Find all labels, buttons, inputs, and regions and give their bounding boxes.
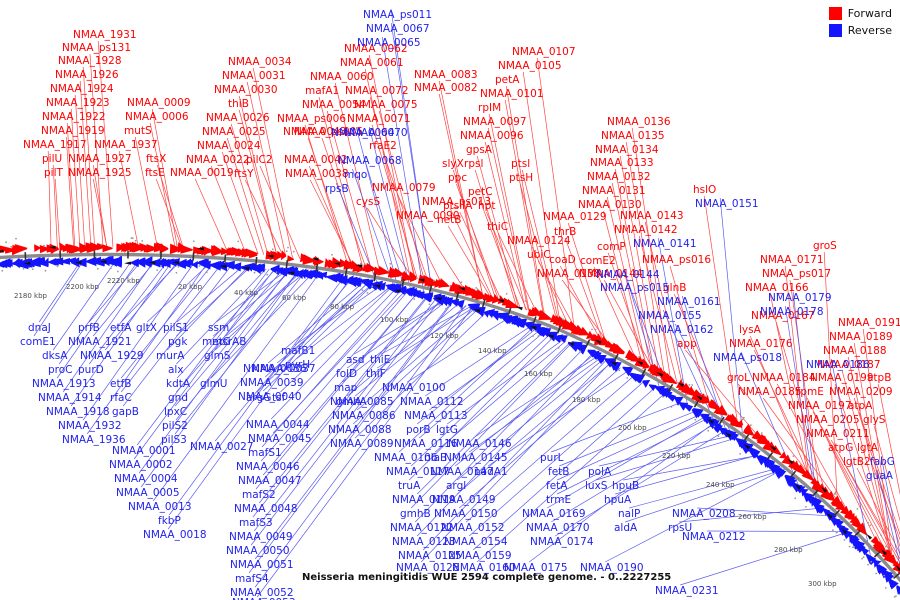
gene-label-forward[interactable]: NMAA_ps131 <box>62 43 131 54</box>
label-leader-line <box>226 273 304 336</box>
gene-label-reverse[interactable]: NMAA_0018 <box>143 530 207 541</box>
gene-label-forward[interactable]: NMAA_0061 <box>340 58 404 69</box>
gene-feature-dot <box>461 281 463 283</box>
gene-label-forward[interactable]: rpmE <box>796 387 824 398</box>
gene-feature-dot <box>894 596 896 598</box>
gene-feature-dot <box>739 453 741 455</box>
gene-label-forward[interactable]: NMAA_0171 <box>760 255 824 266</box>
gene-label-forward[interactable]: ftsX <box>146 154 166 165</box>
gene-label-forward[interactable]: NMAA_0006 <box>125 112 189 123</box>
gene-feature-dot <box>331 254 333 256</box>
gene-label-forward[interactable]: NMAA_1923 <box>46 98 110 109</box>
gene-label-reverse[interactable]: NMAA_1913 <box>32 379 96 390</box>
gene-feature-dot <box>23 268 25 270</box>
gene-feature-dot <box>135 240 137 242</box>
gene-label-reverse[interactable]: rfaC <box>110 393 132 404</box>
gene-label-reverse[interactable]: argl <box>446 481 466 492</box>
gene-label-reverse[interactable]: pgk <box>168 337 187 348</box>
gene-label-reverse[interactable]: NMAA_0088 <box>328 425 392 436</box>
gene-label-reverse[interactable]: mqo <box>344 170 367 181</box>
gene-label-forward[interactable]: NMAA_1925 <box>68 168 132 179</box>
gene-label-reverse[interactable]: purL <box>540 453 564 464</box>
gene-label-forward[interactable]: NMAA_0188 <box>823 346 887 357</box>
gene-label-reverse[interactable]: truA <box>398 481 420 492</box>
gene-feature-dot <box>713 426 715 428</box>
gene-label-reverse[interactable]: glmS <box>204 351 230 362</box>
gene-feature-dot <box>707 430 709 432</box>
gene-label-reverse[interactable]: NMAA_0044 <box>246 420 310 431</box>
gene-feature-dot <box>579 350 581 352</box>
gene-label-reverse[interactable]: polA <box>588 467 611 478</box>
gene-feature-arrow[interactable] <box>642 380 650 388</box>
gene-label-forward[interactable]: NMAA_0134 <box>595 145 659 156</box>
gene-label-forward[interactable]: hslO <box>693 185 716 196</box>
gene-label-reverse[interactable]: NMAA_0186 <box>806 360 870 371</box>
gene-label-forward[interactable]: ftsE <box>145 168 165 179</box>
gene-feature-dot <box>364 264 366 266</box>
gene-label-reverse[interactable]: NMAA_0141 <box>633 239 697 250</box>
gene-label-forward[interactable]: NMAA_0019 <box>170 168 234 179</box>
label-leader-line <box>245 180 284 257</box>
gene-label-forward[interactable]: ppc <box>448 173 467 184</box>
gene-label-reverse[interactable]: NMAA_0113 <box>404 411 468 422</box>
gene-feature-dot <box>748 457 750 459</box>
gene-label-reverse[interactable]: NMAA_0027 <box>190 442 254 453</box>
scale-tick-label: 240 kbp <box>706 481 735 489</box>
gene-label-forward[interactable]: atpB <box>867 373 891 384</box>
gene-label-reverse[interactable]: map <box>334 383 357 394</box>
gene-label-forward[interactable]: NMAA_ps017 <box>762 269 831 280</box>
gene-label-forward[interactable]: cysS <box>356 197 380 208</box>
gene-label-reverse[interactable]: NMAA_0049 <box>229 532 293 543</box>
gene-label-reverse[interactable]: gltX <box>136 323 157 334</box>
gene-feature-dot <box>718 435 720 437</box>
gene-label-reverse[interactable]: nadA1 <box>474 467 508 478</box>
gene-label-reverse[interactable]: prfB <box>78 323 100 334</box>
gene-label-forward[interactable]: NMAA_1937 <box>94 140 158 151</box>
gene-feature-arrow[interactable] <box>180 245 192 254</box>
gene-label-reverse[interactable]: NMAA_0145 <box>444 453 508 464</box>
gene-label-reverse[interactable]: mafS1 <box>248 448 282 459</box>
gene-label-forward[interactable]: petA <box>495 75 519 86</box>
gene-label-reverse[interactable]: NMAA_ps018 <box>713 353 782 364</box>
gene-label-reverse[interactable]: NMAA_0005 <box>116 488 180 499</box>
gene-label-reverse[interactable]: lpxC <box>164 407 187 418</box>
gene-feature-dot <box>794 497 796 499</box>
gene-label-forward[interactable]: NMAA_0132 <box>587 172 651 183</box>
gene-label-forward[interactable]: NMAA_0185 <box>738 387 802 398</box>
gene-label-reverse[interactable]: mafB1 <box>281 346 315 357</box>
scale-tick-label: 140 kbp <box>478 347 507 355</box>
gene-label-reverse[interactable]: NMAA_0169 <box>522 509 586 520</box>
gene-label-forward[interactable]: NMAA_1924 <box>50 84 114 95</box>
gene-feature-arrow[interactable] <box>103 244 113 252</box>
gene-label-reverse[interactable]: NMAA_0179 <box>768 293 832 304</box>
gene-feature-dot <box>5 241 7 243</box>
gene-label-reverse[interactable]: NMAA_0040 <box>238 392 302 403</box>
gene-label-reverse[interactable]: NMAA_ps011 <box>363 10 432 21</box>
gene-feature-dot <box>141 240 143 242</box>
gene-label-reverse[interactable]: NMAA_0068 <box>338 156 402 167</box>
gene-label-reverse[interactable]: NMAA_0231 <box>655 586 719 597</box>
gene-label-forward[interactable]: rfaE2 <box>369 141 397 152</box>
gene-label-reverse[interactable]: mafS4 <box>235 574 269 585</box>
gene-label-forward[interactable]: NMAA_ps006 <box>277 114 346 125</box>
gene-feature-arrow[interactable] <box>281 250 286 260</box>
gene-label-forward[interactable]: NMAA_0131 <box>582 186 646 197</box>
gene-label-forward[interactable]: lysA <box>739 325 761 336</box>
gene-label-forward[interactable]: ftsY <box>234 169 254 180</box>
gene-feature-dot <box>433 280 435 282</box>
gene-label-reverse[interactable]: NMAA_0050 <box>226 546 290 557</box>
gene-label-forward[interactable]: NMAA_1917 <box>23 140 87 151</box>
gene-label-reverse[interactable]: luxS <box>585 481 607 492</box>
gene-feature-dot <box>237 241 239 243</box>
gene-label-reverse[interactable]: etfA <box>110 323 131 334</box>
scale-tick-label: 2200 kbp <box>66 283 99 291</box>
gene-label-reverse[interactable]: NMAA_0013 <box>128 502 192 513</box>
gene-label-reverse[interactable]: aldA <box>614 523 637 534</box>
gene-label-reverse[interactable]: NMAA_0144 <box>596 270 660 281</box>
gene-feature-dot <box>389 263 391 265</box>
scale-tick-label: 300 kbp <box>808 580 837 588</box>
gene-label-reverse[interactable]: comE1 <box>20 337 56 348</box>
gene-label-reverse[interactable]: NMAA_0048 <box>234 504 298 515</box>
gene-feature-dot <box>662 396 664 398</box>
scale-tick-label: 2220 kbp <box>107 277 140 285</box>
gene-label-forward[interactable]: NMAA_0060 <box>310 72 374 83</box>
gene-label-reverse[interactable]: dksA <box>42 351 67 362</box>
gene-label-reverse[interactable]: NMAA_0004 <box>114 474 178 485</box>
gene-label-reverse[interactable]: asd <box>346 355 365 366</box>
gene-label-reverse[interactable]: NMAA_1914 <box>38 393 102 404</box>
gene-feature-dot <box>371 285 373 287</box>
gene-label-forward[interactable]: NMAA_0022 <box>186 155 250 166</box>
gene-label-reverse[interactable]: NMAA_0190 <box>580 563 644 574</box>
gene-label-reverse[interactable]: NMAA_0046 <box>236 462 300 473</box>
gene-feature-dot <box>836 532 838 534</box>
gene-label-forward[interactable]: NMAA_0105 <box>498 61 562 72</box>
gene-label-reverse[interactable]: folD <box>336 369 357 380</box>
gene-feature-dot <box>671 406 673 408</box>
gene-feature-dot <box>176 272 178 274</box>
gene-label-forward[interactable]: ptsH <box>509 173 533 184</box>
gene-label-reverse[interactable]: NMAA_0100 <box>382 383 446 394</box>
gene-label-forward[interactable]: NMAA_0107 <box>512 47 576 58</box>
gene-label-reverse[interactable]: NMAA_1918 <box>46 407 110 418</box>
gene-label-forward[interactable]: NMAA_0030 <box>214 85 278 96</box>
gene-label-reverse[interactable]: pyrH <box>285 360 310 371</box>
gene-label-reverse[interactable]: thiF <box>366 369 386 380</box>
gene-label-forward[interactable]: NMAA_1928 <box>58 56 122 67</box>
gene-label-forward[interactable]: pilU <box>42 154 62 165</box>
gene-feature-arrow[interactable] <box>34 244 40 252</box>
gene-label-reverse[interactable]: dnaJ <box>28 323 51 334</box>
gene-label-reverse[interactable]: etfB <box>110 379 131 390</box>
gene-label-forward[interactable]: NMAA_0083 <box>414 70 478 81</box>
gene-label-reverse[interactable]: NMAA_0001 <box>112 446 176 457</box>
gene-label-forward[interactable]: app <box>677 339 697 350</box>
gene-label-forward[interactable]: NMAA_0097 <box>463 117 527 128</box>
label-leader-line <box>720 198 743 444</box>
gene-label-forward[interactable]: thrB <box>554 227 576 238</box>
gene-label-forward[interactable]: rpsl <box>464 159 483 170</box>
gene-label-reverse[interactable]: NMAA_0086 <box>332 411 396 422</box>
scale-tick-mark <box>346 268 347 276</box>
gene-label-reverse[interactable]: NMAA_0067 <box>366 24 430 35</box>
gene-label-forward[interactable]: ubiC <box>527 250 551 261</box>
gene-label-forward[interactable]: NMAA_0072 <box>345 86 409 97</box>
gene-label-forward[interactable]: NMAA_0199 <box>810 373 874 384</box>
gene-label-forward[interactable]: NMAA_0129 <box>543 212 607 223</box>
gene-label-reverse[interactable]: NMAA_0208 <box>672 509 736 520</box>
gene-label-reverse[interactable]: porB <box>406 425 431 436</box>
gene-feature-arrow[interactable] <box>192 261 198 269</box>
gene-label-forward[interactable]: mafA1 <box>305 86 339 97</box>
gene-label-forward[interactable]: mutS <box>124 126 152 137</box>
gene-feature-dot <box>543 311 545 313</box>
gene-label-forward[interactable]: NMAA_0184 <box>752 373 816 384</box>
gene-label-reverse[interactable]: NMAA_0152 <box>441 523 505 534</box>
gene-feature-dot <box>533 329 535 331</box>
label-leader-line <box>147 264 208 322</box>
gene-label-reverse[interactable]: pilS2 <box>162 421 188 432</box>
scale-tick-label: 220 kbp <box>662 452 691 460</box>
gene-label-forward[interactable]: NMAA_0209 <box>829 387 893 398</box>
gene-label-reverse[interactable]: NMAA_1932 <box>58 421 122 432</box>
gene-label-reverse[interactable]: fkbP <box>158 516 181 527</box>
gene-feature-dot <box>360 263 362 265</box>
gene-label-reverse[interactable]: msrAB <box>212 337 246 348</box>
gene-label-forward[interactable]: NMAA_0024 <box>197 141 261 152</box>
gene-label-reverse[interactable]: guaA <box>866 471 893 482</box>
gene-label-reverse[interactable]: thiE <box>370 355 390 366</box>
reverse-color-swatch <box>829 24 842 37</box>
gene-label-forward[interactable]: NMAA_0176 <box>729 339 793 350</box>
gene-label-forward[interactable]: NMAA_1926 <box>55 70 119 81</box>
gene-label-reverse[interactable]: kdtA <box>166 379 190 390</box>
gene-label-forward[interactable]: NMAA_0191 <box>838 318 900 329</box>
gene-label-forward[interactable]: lgtA <box>857 443 878 454</box>
gene-label-forward[interactable]: NMAA_0197 <box>788 401 852 412</box>
gene-label-forward[interactable]: groL <box>727 373 750 384</box>
gene-label-reverse[interactable]: NMAA_0051 <box>230 560 294 571</box>
scale-tick-label: 120 kbp <box>430 332 459 340</box>
gene-label-reverse[interactable]: fetB <box>548 467 569 478</box>
gene-label-forward[interactable]: netB <box>437 215 461 226</box>
gene-label-forward[interactable]: NMAA_0082 <box>414 83 478 94</box>
gene-label-reverse[interactable]: alx <box>168 365 184 376</box>
gene-label-reverse[interactable]: murA <box>156 351 184 362</box>
gene-label-reverse[interactable]: NMAA_0112 <box>400 397 464 408</box>
scale-tick-label: 80 kbp <box>330 303 354 311</box>
gene-label-reverse[interactable]: gmhB <box>400 509 431 520</box>
gene-label-reverse[interactable]: NMAA_0039 <box>240 378 304 389</box>
gene-label-forward[interactable]: pilC2 <box>246 155 273 166</box>
gene-label-reverse[interactable]: NMAA_0150 <box>434 509 498 520</box>
gene-label-forward[interactable]: NMAA_1922 <box>42 112 106 123</box>
gene-label-reverse[interactable]: gnd <box>168 393 188 404</box>
gene-label-reverse[interactable]: NMAA_0128 <box>396 563 460 574</box>
gene-label-reverse[interactable]: NMAA_0178 <box>760 307 824 318</box>
gene-label-reverse[interactable]: NMAA_0175 <box>504 563 568 574</box>
gene-feature-dot <box>885 546 887 548</box>
gene-label-forward[interactable]: NMAA_0038 <box>285 169 349 180</box>
gene-label-reverse[interactable]: NMAA_0170 <box>526 523 590 534</box>
gene-label-reverse[interactable]: hpuA <box>604 495 631 506</box>
gene-label-reverse[interactable]: fabG <box>870 457 895 468</box>
gene-label-forward[interactable]: slyX <box>442 159 464 170</box>
gene-label-reverse[interactable]: trmE <box>546 495 571 506</box>
gene-feature-dot <box>885 587 887 589</box>
gene-label-reverse[interactable]: mafS2 <box>242 490 276 501</box>
gene-label-forward[interactable]: atpG <box>828 443 853 454</box>
gene-label-forward[interactable]: coaD <box>549 255 576 266</box>
gene-label-forward[interactable]: petC <box>468 187 493 198</box>
gene-label-reverse[interactable]: NMAA_0161 <box>657 297 721 308</box>
gene-label-reverse[interactable]: NMAA_0045 <box>248 434 312 445</box>
gene-label-reverse[interactable]: NMAA_0070 <box>344 128 408 139</box>
gene-feature-dot <box>870 561 872 563</box>
gene-feature-dot <box>362 289 364 291</box>
gene-label-forward[interactable]: NMAA_0189 <box>829 332 893 343</box>
scale-tick-mark <box>225 254 226 262</box>
gene-label-reverse[interactable]: NMAA_1921 <box>68 337 132 348</box>
gene-feature-dot <box>742 419 744 421</box>
scale-tick-mark <box>316 264 317 272</box>
scale-tick-label: 160 kbp <box>524 370 553 378</box>
gene-feature-dot <box>560 340 562 342</box>
gene-label-reverse[interactable]: NMAA_0089 <box>330 439 394 450</box>
gene-feature-dot <box>793 455 795 457</box>
gene-label-forward[interactable]: NMAA_0026 <box>206 113 270 124</box>
gene-feature-dot <box>805 506 807 508</box>
gene-feature-dot <box>254 272 256 274</box>
gene-label-reverse[interactable]: NMAA_ps015 <box>600 283 669 294</box>
gene-label-forward[interactable]: comE2 <box>580 256 616 267</box>
gene-label-forward[interactable]: ptsl <box>511 159 530 170</box>
gene-label-forward[interactable]: NMAA_1931 <box>73 30 137 41</box>
gene-label-reverse[interactable]: NMAA_0212 <box>682 532 746 543</box>
gene-label-forward[interactable]: NMAA_0211 <box>806 429 870 440</box>
label-leader-line <box>156 179 182 249</box>
gene-label-forward[interactable]: lgtB2 <box>843 457 871 468</box>
gene-feature-dot <box>875 573 877 575</box>
gene-feature-dot <box>460 307 462 309</box>
gene-label-reverse[interactable]: NMAA_0162 <box>650 325 714 336</box>
gene-feature-dot <box>704 395 706 397</box>
gene-label-reverse[interactable]: NMAA_0065 <box>357 38 421 49</box>
gene-label-forward[interactable]: NMAA_0143 <box>620 211 684 222</box>
gene-label-reverse[interactable]: rpsB <box>325 184 349 195</box>
gene-feature-dot <box>857 508 859 510</box>
gene-label-reverse[interactable]: NMAA_0085 <box>330 397 394 408</box>
gene-feature-dot <box>156 269 158 271</box>
gene-feature-dot <box>524 300 526 302</box>
gene-label-reverse[interactable]: glmU <box>200 379 228 390</box>
gene-feature-marker[interactable] <box>516 307 523 311</box>
gene-label-forward[interactable]: glyS <box>863 415 885 426</box>
gene-label-reverse[interactable]: gapB <box>112 407 139 418</box>
gene-label-forward[interactable]: NMAA_0079 <box>372 183 436 194</box>
gene-label-reverse[interactable]: NMAA_0149 <box>432 495 496 506</box>
gene-feature-dot <box>550 338 552 340</box>
gene-label-forward[interactable]: NMAA_0075 <box>354 100 418 111</box>
gene-feature-dot <box>591 329 593 331</box>
gene-feature-dot <box>193 240 195 242</box>
gene-label-reverse[interactable]: NMAA_1929 <box>80 351 144 362</box>
gene-label-forward[interactable]: NMAA_0101 <box>480 89 544 100</box>
gene-label-reverse[interactable]: lgtG <box>436 425 458 436</box>
gene-label-reverse[interactable]: NMAA_0146 <box>448 439 512 450</box>
gene-label-forward[interactable]: NMAA_ps016 <box>642 255 711 266</box>
gene-label-forward[interactable]: NMAA_0136 <box>607 117 671 128</box>
gene-feature-dot <box>10 246 12 248</box>
gene-feature-dot <box>750 424 752 426</box>
gene-feature-dot <box>867 564 869 566</box>
gene-feature-dot <box>626 377 628 379</box>
gene-label-forward[interactable]: NMAA_0025 <box>202 127 266 138</box>
gene-label-forward[interactable]: NMAA_0009 <box>127 98 191 109</box>
gene-label-forward[interactable]: NMAA_0031 <box>222 71 286 82</box>
gene-label-forward[interactable]: NMAA_0142 <box>614 225 678 236</box>
gene-label-forward[interactable]: NMAA_0205 <box>796 415 860 426</box>
gene-label-reverse[interactable]: proC <box>48 365 73 376</box>
gene-label-reverse[interactable]: purD <box>78 365 104 376</box>
gene-label-reverse[interactable]: fetA <box>546 481 567 492</box>
gene-feature-dot <box>691 384 693 386</box>
gene-label-forward[interactable]: atpA <box>848 401 872 412</box>
label-leader-line <box>704 196 737 423</box>
label-leader-line <box>48 151 51 248</box>
gene-label-forward[interactable]: thiB <box>228 99 249 110</box>
gene-label-reverse[interactable]: NMAA_0154 <box>444 537 508 548</box>
gene-feature-arrow[interactable] <box>287 255 294 262</box>
gene-label-forward[interactable]: NMAA_0133 <box>590 158 654 169</box>
gene-label-forward[interactable]: pilT <box>44 168 63 179</box>
gene-label-reverse[interactable]: nalP <box>618 509 640 520</box>
gene-label-forward[interactable]: NMAA_0071 <box>347 114 411 125</box>
gene-feature-marker[interactable] <box>124 262 131 265</box>
gene-label-forward[interactable]: comP <box>597 242 626 253</box>
gene-label-reverse[interactable]: NMAA_0159 <box>448 551 512 562</box>
gene-label-reverse[interactable]: hpuB <box>612 481 639 492</box>
gene-label-forward[interactable]: gpsA <box>466 145 492 156</box>
gene-feature-dot <box>867 522 869 524</box>
gene-label-forward[interactable]: NMAA_0096 <box>460 131 524 142</box>
gene-feature-dot <box>15 238 17 240</box>
label-leader-line <box>119 151 138 248</box>
gene-label-forward[interactable]: NMAA_1927 <box>68 154 132 165</box>
gene-label-forward[interactable]: thiC <box>487 222 508 233</box>
gene-label-reverse[interactable]: mafS3 <box>239 518 273 529</box>
gene-label-forward[interactable]: NMAA_1919 <box>41 126 105 137</box>
gene-label-reverse[interactable]: ssm <box>208 323 229 334</box>
gene-label-forward[interactable]: groS <box>813 241 837 252</box>
gene-label-reverse[interactable]: NMAA_0155 <box>638 311 702 322</box>
gene-label-reverse[interactable]: pilS1 <box>163 323 189 334</box>
gene-label-forward[interactable]: rpIM <box>478 103 501 114</box>
gene-label-forward[interactable]: NMAA_0135 <box>601 131 665 142</box>
gene-label-forward[interactable]: ptslIA <box>443 201 472 212</box>
gene-label-reverse[interactable]: NMAA_0174 <box>530 537 594 548</box>
gene-label-reverse[interactable]: NMAA_0151 <box>695 199 759 210</box>
gene-label-reverse[interactable]: NMAA_0002 <box>109 460 173 471</box>
gene-label-forward[interactable]: hpt <box>478 201 495 212</box>
gene-label-reverse[interactable]: NMAA_0047 <box>238 476 302 487</box>
genome-map-viewer: Forward Reverse Neisseria meningitidis W… <box>0 0 900 600</box>
gene-label-forward[interactable]: NMAA_0034 <box>228 57 292 68</box>
